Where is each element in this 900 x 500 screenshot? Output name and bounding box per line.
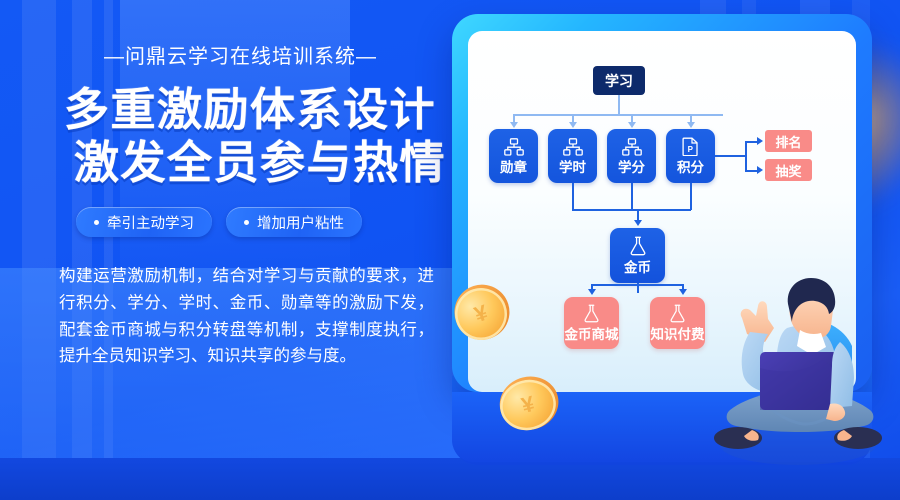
- feature-pill-group: 牵引主动学习 增加用户粘性: [76, 207, 446, 237]
- body-paragraph: 构建运营激励机制，结合对学习与贡献的要求，进行积分、学分、学时、金币、勋章等的激…: [59, 263, 434, 370]
- connector-arrow: [628, 122, 636, 128]
- diagram-node-coin[interactable]: 金币: [610, 228, 665, 283]
- sitemap-icon: [563, 138, 583, 156]
- connector-level2-bus: [513, 114, 723, 116]
- connector-merge-drop: [631, 183, 633, 210]
- diagram-node-study-hours[interactable]: 学时: [548, 129, 597, 183]
- document-p-icon: P: [682, 137, 699, 156]
- kicker-text: —问鼎云学习在线培训系统—: [68, 40, 413, 69]
- connector-arrow: [757, 166, 763, 174]
- feature-pill-1[interactable]: 牵引主动学习: [76, 207, 212, 237]
- diagram-node-coin-mall[interactable]: 金币商城: [564, 297, 619, 349]
- connector-merge-bus: [572, 209, 691, 211]
- sitemap-icon: [504, 138, 524, 156]
- bullet-dot-icon: [244, 220, 249, 225]
- diagram-node-points-label: 积分: [677, 161, 704, 175]
- headline-line-2: 激发全员参与热情: [74, 136, 409, 189]
- sitemap-icon: [622, 138, 642, 156]
- headline-line-1: 多重激励体系设计: [64, 83, 409, 136]
- feature-pill-2-label: 增加用户粘性: [257, 212, 344, 233]
- page-title: 多重激励体系设计 激发全员参与热情: [64, 83, 409, 189]
- bullet-dot-icon: [94, 220, 99, 225]
- connector-arrow: [679, 289, 687, 295]
- flask-icon: [583, 304, 600, 323]
- connector-arrow: [687, 122, 695, 128]
- connector-arrow: [569, 122, 577, 128]
- diagram-tag-ranking[interactable]: 排名: [765, 130, 812, 152]
- feature-pill-2[interactable]: 增加用户粘性: [226, 207, 362, 237]
- connector-arrow: [510, 122, 518, 128]
- diagram-node-points[interactable]: P 积分: [666, 129, 715, 183]
- svg-text:P: P: [688, 145, 694, 154]
- connector-arrow: [634, 220, 642, 226]
- diagram-node-credits-label: 学分: [618, 161, 645, 175]
- connector-root-stem: [618, 95, 620, 114]
- diagram-tag-lottery-label: 抽奖: [775, 161, 801, 180]
- connector-points-out: [715, 155, 746, 157]
- diagram-tag-lottery[interactable]: 抽奖: [765, 159, 812, 181]
- diagram-node-root[interactable]: 学习: [593, 66, 645, 95]
- flask-icon: [629, 236, 647, 256]
- diagram-node-coin-label: 金币: [624, 261, 651, 275]
- banner-stage: —问鼎云学习在线培训系统— 多重激励体系设计 激发全员参与热情 牵引主动学习 增…: [0, 0, 900, 500]
- connector-arrow: [757, 137, 763, 145]
- diagram-node-medal-label: 勋章: [500, 161, 527, 175]
- connector-tag-bus: [745, 141, 747, 170]
- diagram-node-medal[interactable]: 勋章: [489, 129, 538, 183]
- diagram-node-study-hours-label: 学时: [559, 161, 586, 175]
- connector-merge-drop: [690, 183, 692, 210]
- connector-leaf-bus: [591, 284, 683, 286]
- flask-icon: [669, 304, 686, 323]
- diagram-node-credits[interactable]: 学分: [607, 129, 656, 183]
- diagram-node-coin-mall-label: 金币商城: [565, 328, 619, 342]
- diagram-node-root-label: 学习: [605, 74, 633, 88]
- diagram-tag-ranking-label: 排名: [775, 132, 801, 151]
- connector-arrow: [588, 289, 596, 295]
- feature-pill-1-label: 牵引主动学习: [107, 212, 194, 233]
- person-illustration: [690, 270, 900, 485]
- connector-merge-drop: [572, 183, 574, 210]
- headline-block: —问鼎云学习在线培训系统— 多重激励体系设计 激发全员参与热情 牵引主动学习 增…: [56, 40, 446, 370]
